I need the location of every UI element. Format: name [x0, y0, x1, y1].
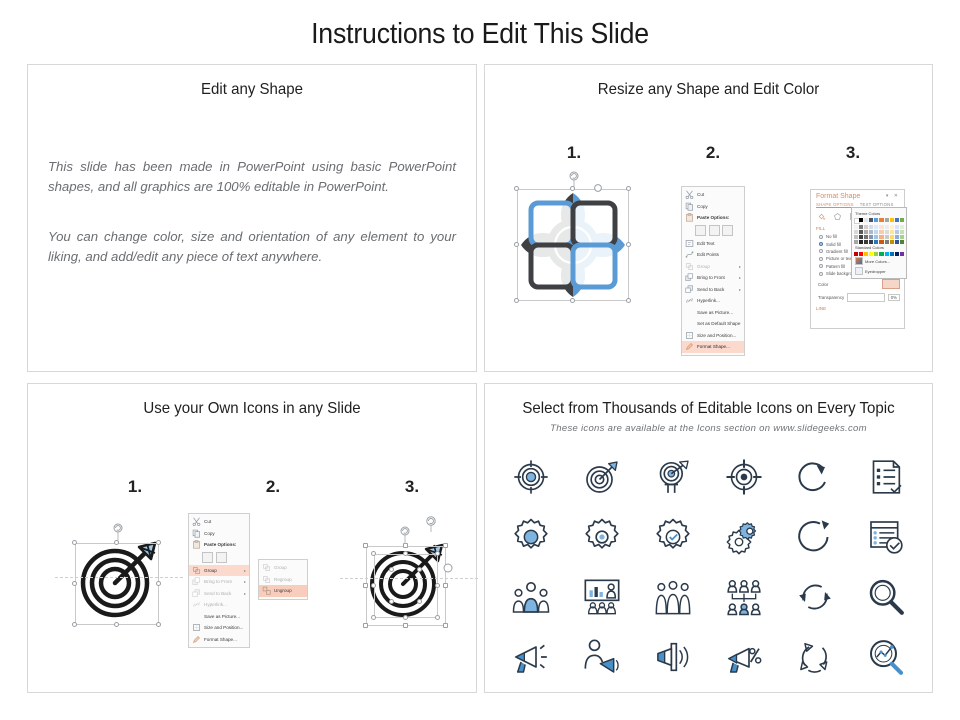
- group-icon: [262, 563, 271, 572]
- copy-icon: [192, 529, 201, 538]
- document-check-icon[interactable]: [866, 517, 906, 557]
- swatch[interactable]: [869, 235, 873, 239]
- menu-label: Hyperlink...: [697, 298, 741, 303]
- scissors-icon: [685, 190, 694, 199]
- color-picker-button[interactable]: [882, 279, 900, 289]
- menu-item-hyperlink[interactable]: Hyperlink...: [189, 599, 249, 611]
- panel-title-icon-library: Select from Thousands of Editable Icons …: [498, 400, 918, 418]
- swatch[interactable]: [874, 240, 878, 244]
- target-icon-selected-graphic[interactable]: [69, 527, 169, 627]
- resize-handle-w[interactable]: [363, 583, 368, 588]
- swatch[interactable]: [854, 235, 858, 239]
- paste-keep-formatting-icon[interactable]: [695, 225, 706, 236]
- swatch[interactable]: [869, 225, 873, 229]
- bring-front-icon: [192, 577, 201, 586]
- submenu-arrow-icon: ▸: [737, 275, 741, 280]
- resize-step-number-2: 2.: [693, 143, 733, 163]
- effects-pentagon-icon[interactable]: [833, 212, 842, 221]
- menu-item-group[interactable]: Group ▸: [189, 565, 249, 577]
- resize-handle-ne[interactable]: [626, 186, 631, 191]
- megaphone-icon[interactable]: [511, 637, 551, 677]
- loudspeaker-icon[interactable]: [653, 637, 693, 677]
- shape-handle[interactable]: [371, 583, 376, 588]
- dual-gear-icon[interactable]: [724, 517, 764, 557]
- submenu-arrow-icon: ▸: [737, 264, 741, 269]
- megaphone-percent-icon[interactable]: [724, 637, 764, 677]
- menu-item-format-shape[interactable]: Format Shape...: [189, 634, 249, 646]
- panel-title-edit-shape: Edit any Shape: [41, 81, 462, 99]
- scissors-icon: [192, 517, 201, 526]
- option-label: Pattern fill: [826, 264, 845, 269]
- submenu-arrow-icon: ▸: [242, 591, 246, 596]
- edit-text-icon: [685, 239, 694, 248]
- team-leader-icon[interactable]: [511, 577, 551, 617]
- standard-colors-label: Standard Colors: [854, 244, 904, 252]
- swatch[interactable]: [864, 235, 868, 239]
- target-dart-icon[interactable]: [582, 457, 622, 497]
- menu-label: Cut: [697, 192, 741, 197]
- submenu-arrow-icon: ▸: [737, 287, 741, 292]
- swatch[interactable]: [890, 230, 894, 234]
- shape-context-menu[interactable]: Cut Copy Paste Options: Edit Text E: [681, 186, 745, 356]
- panel-edit-any-shape: Edit any Shape This slide has been made …: [27, 64, 477, 372]
- menu-label: Format Shape...: [204, 637, 246, 642]
- menu-item-format-shape[interactable]: Format Shape...: [682, 341, 744, 353]
- swatch[interactable]: [885, 252, 889, 256]
- submenu-item-regroup[interactable]: Regroup: [259, 574, 307, 586]
- shape-handle[interactable]: [389, 599, 394, 604]
- color-label: Color: [818, 282, 828, 287]
- swatch[interactable]: [879, 235, 883, 239]
- field-color[interactable]: Color: [811, 277, 904, 291]
- swatch[interactable]: [895, 218, 899, 222]
- pane-close-icon[interactable]: ▾ ✕: [886, 190, 904, 199]
- radio-icon[interactable]: [819, 235, 823, 239]
- resize-handle-sw[interactable]: [514, 298, 519, 303]
- eyedropper-icon: [855, 267, 863, 275]
- edit-shape-paragraph-2: You can change color, size and orientati…: [48, 227, 456, 268]
- bring-front-icon: [685, 273, 694, 282]
- shape-handle[interactable]: [417, 599, 422, 604]
- swatch[interactable]: [900, 235, 904, 239]
- gear-check-icon[interactable]: [653, 517, 693, 557]
- icons-step-number-3: 3.: [392, 477, 432, 497]
- menu-item-edit-points[interactable]: Edit Points: [682, 249, 744, 261]
- option-label: No fill: [826, 234, 837, 239]
- paste-picture-icon[interactable]: [216, 552, 227, 563]
- menu-label: Hyperlink...: [204, 602, 246, 607]
- shape-handle[interactable]: [403, 551, 408, 556]
- panel-resize-shape: Resize any Shape and Edit Color 1. 2. 3.: [484, 64, 933, 372]
- format-shape-title: Format Shape: [811, 190, 864, 201]
- resize-handle-se[interactable]: [626, 298, 631, 303]
- shape-handle[interactable]: [417, 567, 422, 572]
- hyperlink-icon: [685, 296, 694, 305]
- blank-icon: [192, 612, 201, 621]
- page-title: Instructions to Edit This Slide: [38, 18, 921, 51]
- icons-step-number-1: 1.: [115, 477, 155, 497]
- menu-label: Format Shape...: [697, 344, 741, 349]
- swatch[interactable]: [900, 240, 904, 244]
- shape-handle[interactable]: [435, 583, 440, 588]
- swatch[interactable]: [879, 240, 883, 244]
- paste-text-only-icon[interactable]: [722, 225, 733, 236]
- menu-item-paste-options[interactable]: Paste Options:: [189, 539, 249, 551]
- swatch[interactable]: [879, 252, 883, 256]
- send-back-icon: [192, 589, 201, 598]
- shape-handle[interactable]: [403, 615, 408, 620]
- blank-icon: [685, 308, 694, 317]
- swatch[interactable]: [895, 252, 899, 256]
- menu-label: Save as Picture...: [204, 614, 246, 619]
- rotate-handle-icon[interactable]: [399, 526, 411, 544]
- swatch[interactable]: [874, 235, 878, 239]
- paste-icon: [192, 540, 201, 549]
- refresh-circle-icon[interactable]: [795, 517, 835, 557]
- ungroup-icon: [262, 586, 271, 595]
- section-line-label: LINE: [811, 304, 904, 313]
- crosshair-target-icon[interactable]: [511, 457, 551, 497]
- size-position-icon: [192, 623, 201, 632]
- swatch[interactable]: [859, 218, 863, 222]
- swatch[interactable]: [874, 218, 878, 222]
- menu-item-hyperlink[interactable]: Hyperlink...: [682, 295, 744, 307]
- swatch[interactable]: [885, 225, 889, 229]
- theme-colors-label: Theme Colors: [854, 210, 904, 218]
- swatch[interactable]: [890, 235, 894, 239]
- paste-options-row[interactable]: [682, 224, 744, 238]
- group-submenu[interactable]: Group Regroup Ungroup: [258, 559, 308, 600]
- radio-icon[interactable]: [819, 249, 823, 253]
- swatch[interactable]: [864, 225, 868, 229]
- edit-points-icon: [685, 250, 694, 259]
- selection-box: [75, 543, 159, 625]
- resize-handle-s[interactable]: [403, 623, 408, 628]
- swatch[interactable]: [885, 235, 889, 239]
- fill-bucket-icon[interactable]: [817, 212, 826, 221]
- swatch[interactable]: [885, 218, 889, 222]
- submenu-arrow-icon: ▸: [242, 568, 246, 573]
- menu-label: Copy: [204, 531, 246, 536]
- format-shape-icon: [685, 342, 694, 351]
- menu-label: Bring to Front: [204, 579, 242, 584]
- person-megaphone-icon[interactable]: [582, 637, 622, 677]
- shape-handle[interactable]: [435, 551, 440, 556]
- icon-library-grid: [495, 447, 922, 687]
- paste-picture-icon[interactable]: [709, 225, 720, 236]
- tab-shape-options[interactable]: SHAPE OPTIONS: [816, 202, 854, 208]
- swatch[interactable]: [895, 225, 899, 229]
- blank-icon: [685, 319, 694, 328]
- swatch[interactable]: [885, 240, 889, 244]
- menu-label: Edit Points: [697, 252, 741, 257]
- resize-handle-nw[interactable]: [514, 186, 519, 191]
- eyedropper-label: Eyedropper: [865, 269, 886, 274]
- rotate-handle-icon[interactable]: [568, 171, 580, 187]
- submenu-item-ungroup[interactable]: Ungroup: [259, 585, 307, 597]
- radio-icon[interactable]: [819, 272, 823, 276]
- resize-handle-nw[interactable]: [72, 540, 77, 545]
- menu-item-send-to-back[interactable]: Send to Back ▸: [682, 284, 744, 296]
- more-colors-icon: [855, 257, 863, 265]
- field-transparency[interactable]: Transparency 0%: [811, 291, 904, 304]
- panel-own-icons: Use your Own Icons in any Slide 1. 2. 3.: [27, 383, 477, 693]
- selection-box-inner: [374, 554, 438, 618]
- group-icon: [192, 566, 201, 575]
- resize-handle-ne[interactable]: [443, 543, 448, 548]
- swatch[interactable]: [890, 218, 894, 222]
- menu-item-set-default-shape[interactable]: Set as Default Shape: [682, 318, 744, 330]
- theme-colors-grid[interactable]: [854, 218, 904, 244]
- size-position-icon: [685, 331, 694, 340]
- more-colors-item[interactable]: More Colors...: [854, 256, 904, 266]
- shape-handle[interactable]: [389, 567, 394, 572]
- swatch[interactable]: [864, 230, 868, 234]
- menu-item-copy[interactable]: Copy: [682, 201, 744, 213]
- option-label: Gradient fill: [826, 249, 848, 254]
- menu-item-cut[interactable]: Cut: [189, 516, 249, 528]
- transparency-value[interactable]: 0%: [888, 294, 900, 301]
- team-group-icon[interactable]: [653, 577, 693, 617]
- submenu-item-group[interactable]: Group: [259, 562, 307, 574]
- radio-icon[interactable]: [819, 257, 823, 261]
- edit-shape-paragraph-1: This slide has been made in PowerPoint u…: [48, 157, 456, 198]
- resize-handle-ne[interactable]: [156, 540, 161, 545]
- menu-label: Send to Back: [204, 591, 242, 596]
- hyperlink-icon: [192, 600, 201, 609]
- menu-label: Group: [204, 568, 242, 573]
- swatch[interactable]: [859, 235, 863, 239]
- swatch[interactable]: [900, 230, 904, 234]
- swatch[interactable]: [895, 230, 899, 234]
- transparency-slider[interactable]: [847, 293, 885, 302]
- icons-step-number-2: 2.: [253, 477, 293, 497]
- menu-item-group[interactable]: Group ▸: [682, 261, 744, 273]
- swatch[interactable]: [864, 218, 868, 222]
- menu-label: Group: [697, 264, 737, 269]
- menu-label: Cut: [204, 519, 246, 524]
- menu-item-save-as-picture[interactable]: Save as Picture...: [189, 611, 249, 623]
- resize-handle-s[interactable]: [114, 622, 119, 627]
- eyedropper-item[interactable]: Eyedropper: [854, 266, 904, 276]
- resize-step-number-1: 1.: [554, 143, 594, 163]
- resize-handle-se[interactable]: [443, 623, 448, 628]
- format-shape-icon: [192, 635, 201, 644]
- option-label: Solid fill: [826, 242, 841, 247]
- panel-title-resize-shape: Resize any Shape and Edit Color: [498, 81, 918, 99]
- swatch[interactable]: [859, 252, 863, 256]
- swatch[interactable]: [869, 252, 873, 256]
- swatch[interactable]: [864, 252, 868, 256]
- menu-item-bring-to-front[interactable]: Bring to Front ▸: [189, 576, 249, 588]
- resize-step-number-3: 3.: [833, 143, 873, 163]
- presentation-audience-icon[interactable]: [582, 577, 622, 617]
- swatch[interactable]: [854, 225, 858, 229]
- icon-library-subtitle: These icons are available at the Icons s…: [485, 423, 932, 434]
- selection-box: [517, 189, 629, 301]
- menu-label: Bring to Front: [697, 275, 737, 280]
- menu-item-save-as-picture[interactable]: Save as Picture...: [682, 307, 744, 319]
- menu-label: Size and Position...: [204, 625, 246, 630]
- sync-cycle-icon[interactable]: [795, 577, 835, 617]
- resize-handle-sw[interactable]: [72, 622, 77, 627]
- resize-handle-w[interactable]: [514, 242, 519, 247]
- regroup-icon: [262, 575, 271, 584]
- menu-item-size-and-position[interactable]: Size and Position...: [682, 330, 744, 342]
- menu-label: Paste Options:: [697, 215, 741, 220]
- swatch[interactable]: [879, 230, 883, 234]
- menu-label: Save as Picture...: [697, 310, 741, 315]
- swatch[interactable]: [859, 225, 863, 229]
- crosshair-dot-icon[interactable]: [724, 457, 764, 497]
- swatch[interactable]: [895, 240, 899, 244]
- paste-icon: [685, 213, 694, 222]
- shape-handle[interactable]: [371, 551, 376, 556]
- send-back-icon: [685, 285, 694, 294]
- paste-keep-formatting-icon[interactable]: [202, 552, 213, 563]
- resize-handle-e[interactable]: [626, 242, 631, 247]
- rotate-handle-icon-2[interactable]: [424, 516, 438, 532]
- swatch[interactable]: [869, 230, 873, 234]
- panel-title-own-icons: Use your Own Icons in any Slide: [41, 400, 462, 418]
- transparency-label: Transparency: [818, 295, 844, 300]
- menu-label: Copy: [697, 204, 741, 209]
- resize-handle-w[interactable]: [72, 581, 77, 586]
- menu-item-paste-options[interactable]: Paste Options:: [682, 212, 744, 224]
- menu-label: Edit Text: [697, 241, 741, 246]
- adjust-handle-icon[interactable]: [442, 562, 454, 574]
- resize-handle-se[interactable]: [156, 622, 161, 627]
- circular-arrows-icon[interactable]: [795, 637, 835, 677]
- swatch[interactable]: [854, 230, 858, 234]
- swatch[interactable]: [900, 218, 904, 222]
- menu-item-bring-to-front[interactable]: Bring to Front ▸: [682, 272, 744, 284]
- menu-item-edit-text[interactable]: Edit Text: [682, 238, 744, 250]
- menu-label: Send to Back: [697, 287, 737, 292]
- resize-handle-e[interactable]: [443, 583, 448, 588]
- menu-label: Group: [274, 565, 304, 570]
- swatch[interactable]: [859, 230, 863, 234]
- swatch[interactable]: [885, 230, 889, 234]
- swatch[interactable]: [890, 225, 894, 229]
- menu-label: Set as Default Shape: [697, 321, 741, 326]
- menu-label: Ungroup: [274, 588, 304, 593]
- swatch[interactable]: [874, 225, 878, 229]
- magnifier-chart-icon[interactable]: [866, 637, 906, 677]
- menu-label: Paste Options:: [204, 542, 246, 547]
- swatch[interactable]: [854, 252, 858, 256]
- radio-icon[interactable]: [819, 264, 823, 268]
- panel-icon-library: Select from Thousands of Editable Icons …: [484, 383, 933, 693]
- gear-solid-icon[interactable]: [511, 517, 551, 557]
- swatch[interactable]: [864, 240, 868, 244]
- shape-handle[interactable]: [435, 615, 440, 620]
- swatch[interactable]: [895, 235, 899, 239]
- four-quadrant-shape-graphic[interactable]: [513, 185, 633, 305]
- resize-handle-e[interactable]: [156, 581, 161, 586]
- swatch[interactable]: [869, 218, 873, 222]
- menu-item-cut[interactable]: Cut: [682, 189, 744, 201]
- resize-handle-s[interactable]: [570, 298, 575, 303]
- standard-colors-grid[interactable]: [854, 252, 904, 256]
- paste-options-row[interactable]: [189, 551, 249, 565]
- copy-icon: [685, 202, 694, 211]
- menu-label: Regroup: [274, 577, 304, 582]
- swatch[interactable]: [879, 218, 883, 222]
- swatch[interactable]: [874, 252, 878, 256]
- menu-label: Size and Position...: [697, 333, 741, 338]
- menu-item-send-to-back[interactable]: Send to Back ▸: [189, 588, 249, 600]
- submenu-arrow-icon: ▸: [242, 579, 246, 584]
- gear-ring-icon[interactable]: [582, 517, 622, 557]
- icon-context-menu[interactable]: Cut Copy Paste Options: Group ▸ Brin: [188, 513, 250, 648]
- swatch[interactable]: [874, 230, 878, 234]
- rotate-handle-icon[interactable]: [112, 523, 124, 541]
- swatch[interactable]: [890, 252, 894, 256]
- group-icon: [685, 262, 694, 271]
- resize-handle-nw[interactable]: [363, 543, 368, 548]
- checklist-document-icon[interactable]: [866, 457, 906, 497]
- magnifier-icon[interactable]: [866, 577, 906, 617]
- target-icon-ungrouped-graphic[interactable]: [356, 524, 462, 630]
- target-stand-arrow-icon[interactable]: [653, 457, 693, 497]
- adjust-handle-icon[interactable]: [593, 183, 603, 193]
- resize-handle-sw[interactable]: [363, 623, 368, 628]
- redo-arrow-icon[interactable]: [795, 457, 835, 497]
- swatch[interactable]: [859, 240, 863, 244]
- menu-item-size-and-position[interactable]: Size and Position...: [189, 622, 249, 634]
- swatch[interactable]: [869, 240, 873, 244]
- more-colors-label: More Colors...: [865, 259, 890, 264]
- swatch[interactable]: [900, 225, 904, 229]
- swatch[interactable]: [890, 240, 894, 244]
- team-network-icon[interactable]: [724, 577, 764, 617]
- radio-icon[interactable]: [819, 242, 823, 246]
- shape-handle[interactable]: [371, 615, 376, 620]
- slide-canvas: Instructions to Edit This Slide Edit any…: [0, 0, 960, 720]
- color-picker-popup[interactable]: Theme Colors: [851, 207, 907, 279]
- swatch[interactable]: [854, 240, 858, 244]
- swatch[interactable]: [879, 225, 883, 229]
- swatch[interactable]: [900, 252, 904, 256]
- menu-item-copy[interactable]: Copy: [189, 528, 249, 540]
